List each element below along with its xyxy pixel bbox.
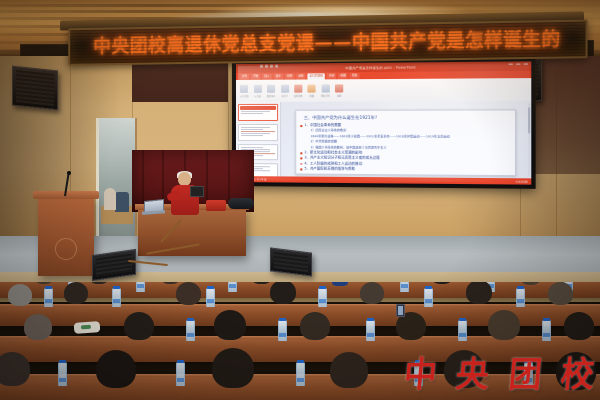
ribbon-button-record[interactable]: 录制 bbox=[335, 84, 343, 97]
slide-thumbnail[interactable] bbox=[238, 104, 278, 121]
ribbon-button-setup-show[interactable]: 设置放映 bbox=[294, 84, 303, 97]
red-folder bbox=[206, 200, 226, 211]
current-slide: 三、中国共产党为什么诞生在1921年？ 1．中国社会革命的需要 1）旧民主主义革… bbox=[296, 109, 516, 176]
audience-head bbox=[124, 312, 154, 340]
tab-help[interactable]: 帮助 bbox=[350, 73, 359, 79]
audience-head bbox=[488, 310, 520, 340]
tab-review[interactable]: 审阅 bbox=[327, 73, 336, 79]
watermark-char: 团 bbox=[507, 357, 543, 392]
window-controls[interactable] bbox=[509, 63, 528, 64]
window-title: 中国共产党是怎样诞生的.pptx - PowerPoint bbox=[345, 64, 416, 70]
microphone-icon bbox=[67, 171, 71, 175]
lecture-hall-photo: 中国共产党是怎样诞生的.pptx - PowerPoint 文件 开始 插入 设… bbox=[0, 0, 600, 400]
floor-monitor bbox=[270, 247, 312, 276]
play-icon bbox=[240, 84, 248, 92]
audience-head bbox=[96, 350, 136, 388]
tab-animations[interactable]: 动画 bbox=[296, 73, 305, 79]
white-towel bbox=[74, 321, 101, 334]
timer-icon bbox=[321, 84, 329, 92]
podium bbox=[38, 196, 94, 276]
slide-bullet: 5．共产国际和苏俄的指导与帮助 bbox=[301, 167, 511, 174]
audience-head bbox=[270, 282, 296, 304]
watermark-char: 校 bbox=[559, 357, 595, 392]
audience-head bbox=[548, 282, 573, 305]
ribbon-button-hide-slide[interactable]: 隐藏 bbox=[308, 84, 316, 97]
gear-icon bbox=[294, 84, 302, 92]
list-icon bbox=[281, 84, 289, 92]
audience-head bbox=[564, 312, 594, 340]
audience-head bbox=[64, 282, 88, 304]
record-icon bbox=[335, 84, 343, 92]
tab-view[interactable]: 视图 bbox=[338, 73, 347, 79]
audience-head bbox=[176, 282, 201, 305]
audience-head bbox=[466, 282, 492, 304]
powerpoint-window: 中国共产党是怎样诞生的.pptx - PowerPoint 文件 开始 插入 设… bbox=[236, 61, 531, 184]
tab-insert[interactable]: 插入 bbox=[262, 74, 271, 80]
audience-head bbox=[214, 310, 246, 340]
audience-head bbox=[360, 282, 384, 304]
hide-icon bbox=[308, 84, 316, 92]
projection-screen: 中国共产党是怎样诞生的.pptx - PowerPoint 文件 开始 插入 设… bbox=[232, 57, 536, 189]
wall-speaker-left bbox=[12, 66, 58, 111]
ribbon-button-rehearse[interactable]: 排练计时 bbox=[321, 84, 330, 97]
laptop bbox=[144, 200, 166, 216]
tab-transitions[interactable]: 切换 bbox=[285, 74, 294, 80]
podium-emblem bbox=[55, 238, 77, 260]
audience-head bbox=[0, 352, 30, 386]
slide-bullet-list: 1．中国社会革命的需要 1）旧民主主义革命的教训 1840年鸦片战争——1900… bbox=[301, 123, 511, 174]
audience-head bbox=[300, 312, 330, 340]
slide-canvas[interactable]: 三、中国共产党为什么诞生在1921年？ 1．中国社会革命的需要 1）旧民主主义革… bbox=[281, 101, 531, 185]
tab-home[interactable]: 开始 bbox=[251, 74, 260, 80]
globe-icon bbox=[267, 84, 275, 92]
black-bag bbox=[228, 198, 254, 209]
side-doorway bbox=[96, 118, 137, 238]
watermark-char: 央 bbox=[455, 357, 491, 392]
ribbon-button-present-online[interactable]: 联机演示 bbox=[267, 84, 276, 97]
watermark-char: 中 bbox=[402, 357, 438, 392]
audience-head bbox=[330, 352, 368, 388]
slide-thumbnail[interactable] bbox=[238, 124, 278, 141]
watermark: 中 央 团 校 bbox=[404, 352, 594, 396]
play-current-icon bbox=[254, 84, 262, 92]
language-indicator: 中文(中国) bbox=[516, 179, 528, 183]
tab-file[interactable]: 文件 bbox=[240, 74, 249, 80]
desk-row bbox=[0, 282, 600, 298]
audience-head bbox=[24, 314, 52, 340]
ribbon[interactable]: 从头开始 从当前 联机演示 自定义 设置放映 bbox=[236, 78, 531, 103]
slide-title: 三、中国共产党为什么诞生在1921年？ bbox=[304, 115, 511, 121]
led-banner-text: 中央团校离退休党总支党课——中国共产党是怎样诞生的 bbox=[93, 30, 560, 56]
led-banner: 中央团校离退休党总支党课——中国共产党是怎样诞生的 bbox=[68, 20, 587, 66]
tab-slideshow[interactable]: 幻灯片放映 bbox=[308, 73, 325, 79]
blue-cap bbox=[332, 282, 348, 286]
status-bar: 幻灯片 第 8 张，共 24 张 中文(中国) bbox=[236, 176, 531, 185]
audience-head bbox=[8, 284, 32, 306]
ribbon-button-from-current[interactable]: 从当前 bbox=[254, 84, 262, 97]
smartphone bbox=[396, 304, 405, 317]
vertical-scrollbar[interactable] bbox=[528, 103, 530, 176]
ribbon-button-custom-show[interactable]: 自定义 bbox=[281, 84, 289, 97]
quick-access-toolbar[interactable] bbox=[260, 65, 278, 68]
audience-head bbox=[212, 348, 254, 388]
ribbon-button-from-beginning[interactable]: 从头开始 bbox=[240, 84, 249, 97]
tab-design[interactable]: 设计 bbox=[274, 74, 283, 80]
confidence-monitor bbox=[190, 186, 204, 197]
